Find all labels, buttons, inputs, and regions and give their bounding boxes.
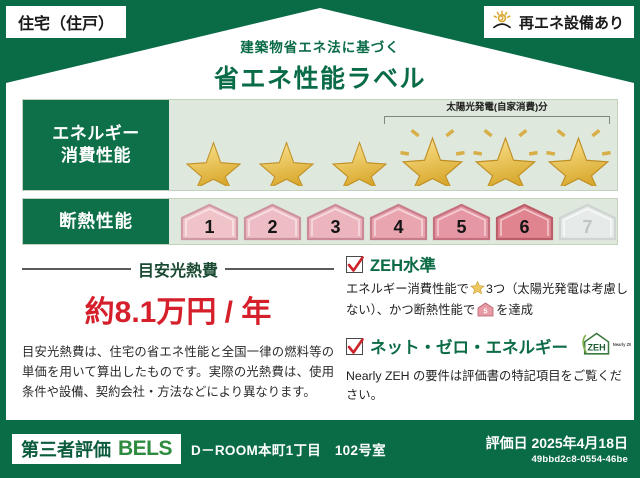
check-icon: [346, 336, 365, 358]
badge-renewable-energy: 再エネ設備あり: [484, 6, 634, 38]
insulation-label-text: 断熱性能: [59, 210, 133, 232]
energy-star-rating: [177, 122, 611, 186]
insulation-level-number: 7: [582, 217, 592, 238]
energy-label-line2: 消費性能: [61, 145, 131, 167]
net-zero-energy-checkbox[interactable]: [346, 338, 363, 355]
insulation-level-inactive: 7: [557, 203, 618, 241]
zeh-standard-desc: エネルギー消費性能で3つ（太陽光発電は考慮しない）、かつ断熱性能で5を達成: [346, 280, 631, 324]
label-title-main: 省エネ性能ラベル: [0, 59, 640, 95]
evaluation-date: 評価日 2025年4月18日: [486, 433, 628, 453]
utility-cost-note: 目安光熱費は、住宅の省エネ性能と全国一律の燃料等の単価を用いて算出したものです。…: [22, 343, 334, 403]
insulation-performance-row: 断熱性能 1234567: [22, 198, 618, 245]
net-zero-energy-block: ネット・ゼロ・エネルギー ZEH Nearly ZEH Nearly ZEH の…: [346, 330, 631, 406]
insulation-level-achieved: 2: [242, 203, 303, 241]
energy-star-solar: [396, 120, 469, 186]
energy-star-solar: [542, 120, 615, 186]
check-icon: [346, 254, 365, 276]
energy-label-root: 住宅（住戸） 再エネ設備あり 建築物省エネ法に基づく 省エネ性能ラベル: [0, 0, 640, 478]
insulation-level-achieved: 6: [494, 203, 555, 241]
badge-housing-type: 住宅（住戸）: [6, 6, 126, 38]
insulation-level-achieved: 3: [305, 203, 366, 241]
zeh-column: ZEH水準 エネルギー消費性能で3つ（太陽光発電は考慮しない）、かつ断熱性能で5…: [342, 252, 631, 412]
badge-renewable-label: 再エネ設備あり: [519, 12, 624, 33]
energy-performance-body: 太陽光発電(自家消費)分: [169, 100, 617, 190]
utility-cost-value: 約8.1万円 / 年: [22, 287, 334, 331]
svg-text:Nearly ZEH: Nearly ZEH: [613, 342, 631, 347]
badge-housing-type-label: 住宅（住戸）: [18, 10, 114, 34]
energy-performance-row: エネルギー 消費性能 太陽光発電(自家消費)分: [22, 99, 618, 191]
svg-text:5: 5: [484, 307, 488, 316]
insulation-level-achieved: 4: [368, 203, 429, 241]
lower-section: 目安光熱費 約8.1万円 / 年 目安光熱費は、住宅の省エネ性能と全国一律の燃料…: [22, 252, 618, 412]
utility-cost-heading-text: 目安光熱費: [138, 257, 218, 281]
solar-portion-label: 太陽光発電(自家消費)分: [384, 99, 610, 113]
evaluation-info: 評価日 2025年4月18日 49bbd2c8-0554-46be: [486, 433, 628, 465]
energy-star-filled: [250, 120, 323, 186]
insulation-level-number: 3: [330, 217, 340, 238]
insulation-level-number: 4: [393, 217, 403, 238]
label-footer: 第三者評価 BELS D－ROOM本町1丁目 102号室 評価日 2025年4月…: [0, 420, 640, 478]
insulation-level-achieved: 1: [179, 203, 240, 241]
insulation-performance-body: 1234567: [169, 199, 617, 244]
utility-cost-heading: 目安光熱費: [22, 257, 334, 281]
solar-sun-icon: [490, 8, 514, 36]
insulation-level-number: 5: [456, 217, 466, 238]
insulation-level-achieved: 5: [431, 203, 492, 241]
svg-text:ZEH: ZEH: [588, 342, 606, 352]
label-title-sub: 建築物省エネ法に基づく: [0, 36, 640, 56]
energy-star-solar: [469, 120, 542, 186]
zeh-standard-block: ZEH水準 エネルギー消費性能で3つ（太陽光発電は考慮しない）、かつ断熱性能で5…: [346, 252, 631, 324]
insulation-level-scale: 1234567: [179, 203, 611, 240]
rule-right: [225, 268, 334, 270]
zeh-desc-star-text: 3つ（太陽光発電: [486, 282, 579, 296]
energy-star-filled: [323, 120, 396, 186]
property-address: D－ROOM本町1丁目 102号室: [191, 439, 386, 459]
third-party-eval-text: 第三者評価: [21, 436, 111, 462]
energy-performance-label: エネルギー 消費性能: [23, 100, 169, 190]
insulation-level-number: 6: [519, 217, 529, 238]
zeh-standard-head: ZEH水準: [346, 252, 631, 276]
rule-left: [22, 268, 131, 270]
zeh-desc-part3: を達成: [496, 303, 533, 317]
bels-certification-plate: 第三者評価 BELS: [12, 434, 181, 464]
energy-label-line1: エネルギー: [52, 123, 140, 145]
energy-star-filled: [177, 120, 250, 186]
utility-cost-column: 目安光熱費 約8.1万円 / 年 目安光熱費は、住宅の省エネ性能と全国一律の燃料…: [22, 252, 342, 412]
bels-logo-text: BELS: [118, 437, 172, 461]
zeh-standard-title: ZEH水準: [370, 252, 436, 276]
inline-star-icon: [470, 284, 485, 298]
label-title-block: 建築物省エネ法に基づく 省エネ性能ラベル: [0, 36, 640, 95]
label-content: エネルギー 消費性能 太陽光発電(自家消費)分 断熱性能 1234567: [22, 99, 618, 412]
insulation-level-number: 1: [204, 217, 214, 238]
net-zero-energy-title: ネット・ゼロ・エネルギー: [370, 334, 568, 358]
net-zero-energy-desc: Nearly ZEH の要件は評価書の特記項目をご覧ください。: [346, 367, 631, 406]
evaluation-id: 49bbd2c8-0554-46be: [486, 454, 628, 465]
insulation-level-number: 2: [267, 217, 277, 238]
zeh-standard-checkbox[interactable]: [346, 256, 363, 273]
inline-house-badge: 5: [477, 306, 494, 320]
zeh-house-logo: ZEH Nearly ZEH: [579, 330, 631, 363]
zeh-desc-part1: エネルギー消費性能で: [346, 282, 469, 296]
net-zero-energy-head: ネット・ゼロ・エネルギー ZEH Nearly ZEH: [346, 330, 631, 363]
insulation-performance-label: 断熱性能: [23, 199, 169, 244]
